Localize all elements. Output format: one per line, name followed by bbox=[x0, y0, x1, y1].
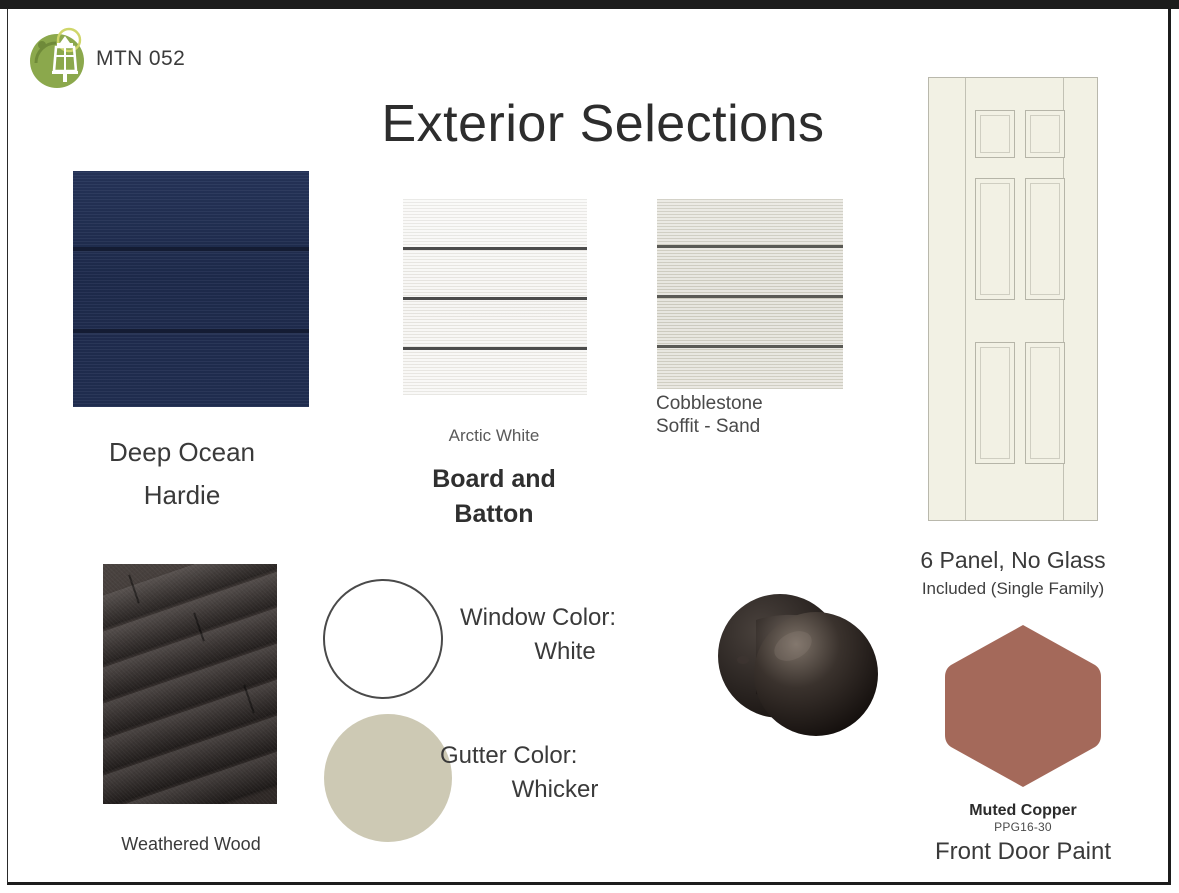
window-color-label: Window Color: bbox=[460, 601, 670, 635]
selections-board-page: MTN 052 Exterior Selections Deep Ocean H… bbox=[7, 9, 1171, 885]
gutter-color-caption: Gutter Color: Whicker bbox=[440, 739, 670, 807]
navy-lap-siding-swatch bbox=[73, 171, 309, 407]
door-panel-middle-right bbox=[1025, 178, 1065, 300]
page-title: Exterior Selections bbox=[348, 97, 858, 152]
deep-ocean-caption: Deep Ocean Hardie bbox=[68, 431, 296, 517]
roof-color-label: Weathered Wood bbox=[93, 834, 289, 855]
door-availability: Included (Single Family) bbox=[888, 579, 1138, 599]
white-lap-siding-swatch bbox=[403, 199, 587, 395]
door-panel-bottom-right bbox=[1025, 342, 1065, 464]
soffit-color-name: Cobblestone bbox=[656, 393, 848, 416]
siding-material: Hardie bbox=[68, 474, 296, 517]
arctic-white-label: Arctic White bbox=[404, 426, 584, 446]
hexagon-paint-chip bbox=[938, 621, 1108, 791]
six-panel-door-graphic bbox=[928, 77, 1098, 521]
window-color-caption: Window Color: White bbox=[460, 601, 670, 669]
window-color-value: White bbox=[460, 635, 670, 669]
gutter-color-label: Gutter Color: bbox=[440, 739, 670, 773]
lantern-logo-icon bbox=[24, 21, 96, 93]
soffit-application: Soffit - Sand bbox=[656, 416, 848, 439]
white-circle-swatch bbox=[323, 579, 443, 699]
door-style: 6 Panel, No Glass bbox=[920, 547, 1105, 573]
project-code: MTN 052 bbox=[96, 47, 185, 71]
door-panel-top-right bbox=[1025, 110, 1065, 158]
cobblestone-soffit-caption: Cobblestone Soffit - Sand bbox=[656, 393, 848, 439]
gutter-color-value: Whicker bbox=[440, 773, 670, 807]
top-dark-band bbox=[0, 0, 1179, 9]
door-panel-bottom-left bbox=[975, 342, 1015, 464]
paint-code: PPG16-30 bbox=[918, 820, 1128, 834]
front-door-paint-caption: Muted Copper PPG16-30 Front Door Paint bbox=[918, 802, 1128, 866]
sand-lap-siding-swatch bbox=[657, 199, 843, 389]
siding-color-name: Deep Ocean bbox=[68, 431, 296, 474]
door-panel-middle-left bbox=[975, 178, 1015, 300]
door-panel-top-left bbox=[975, 110, 1015, 158]
tan-circle-swatch bbox=[324, 714, 452, 842]
board-and-batton-label: Board and Batton bbox=[394, 462, 594, 531]
shingle-photo bbox=[103, 564, 277, 804]
door-knob-photo bbox=[698, 574, 898, 754]
paint-application: Front Door Paint bbox=[918, 838, 1128, 866]
paint-color-name: Muted Copper bbox=[918, 802, 1128, 820]
door-caption: 6 Panel, No Glass Included (Single Famil… bbox=[888, 547, 1138, 599]
